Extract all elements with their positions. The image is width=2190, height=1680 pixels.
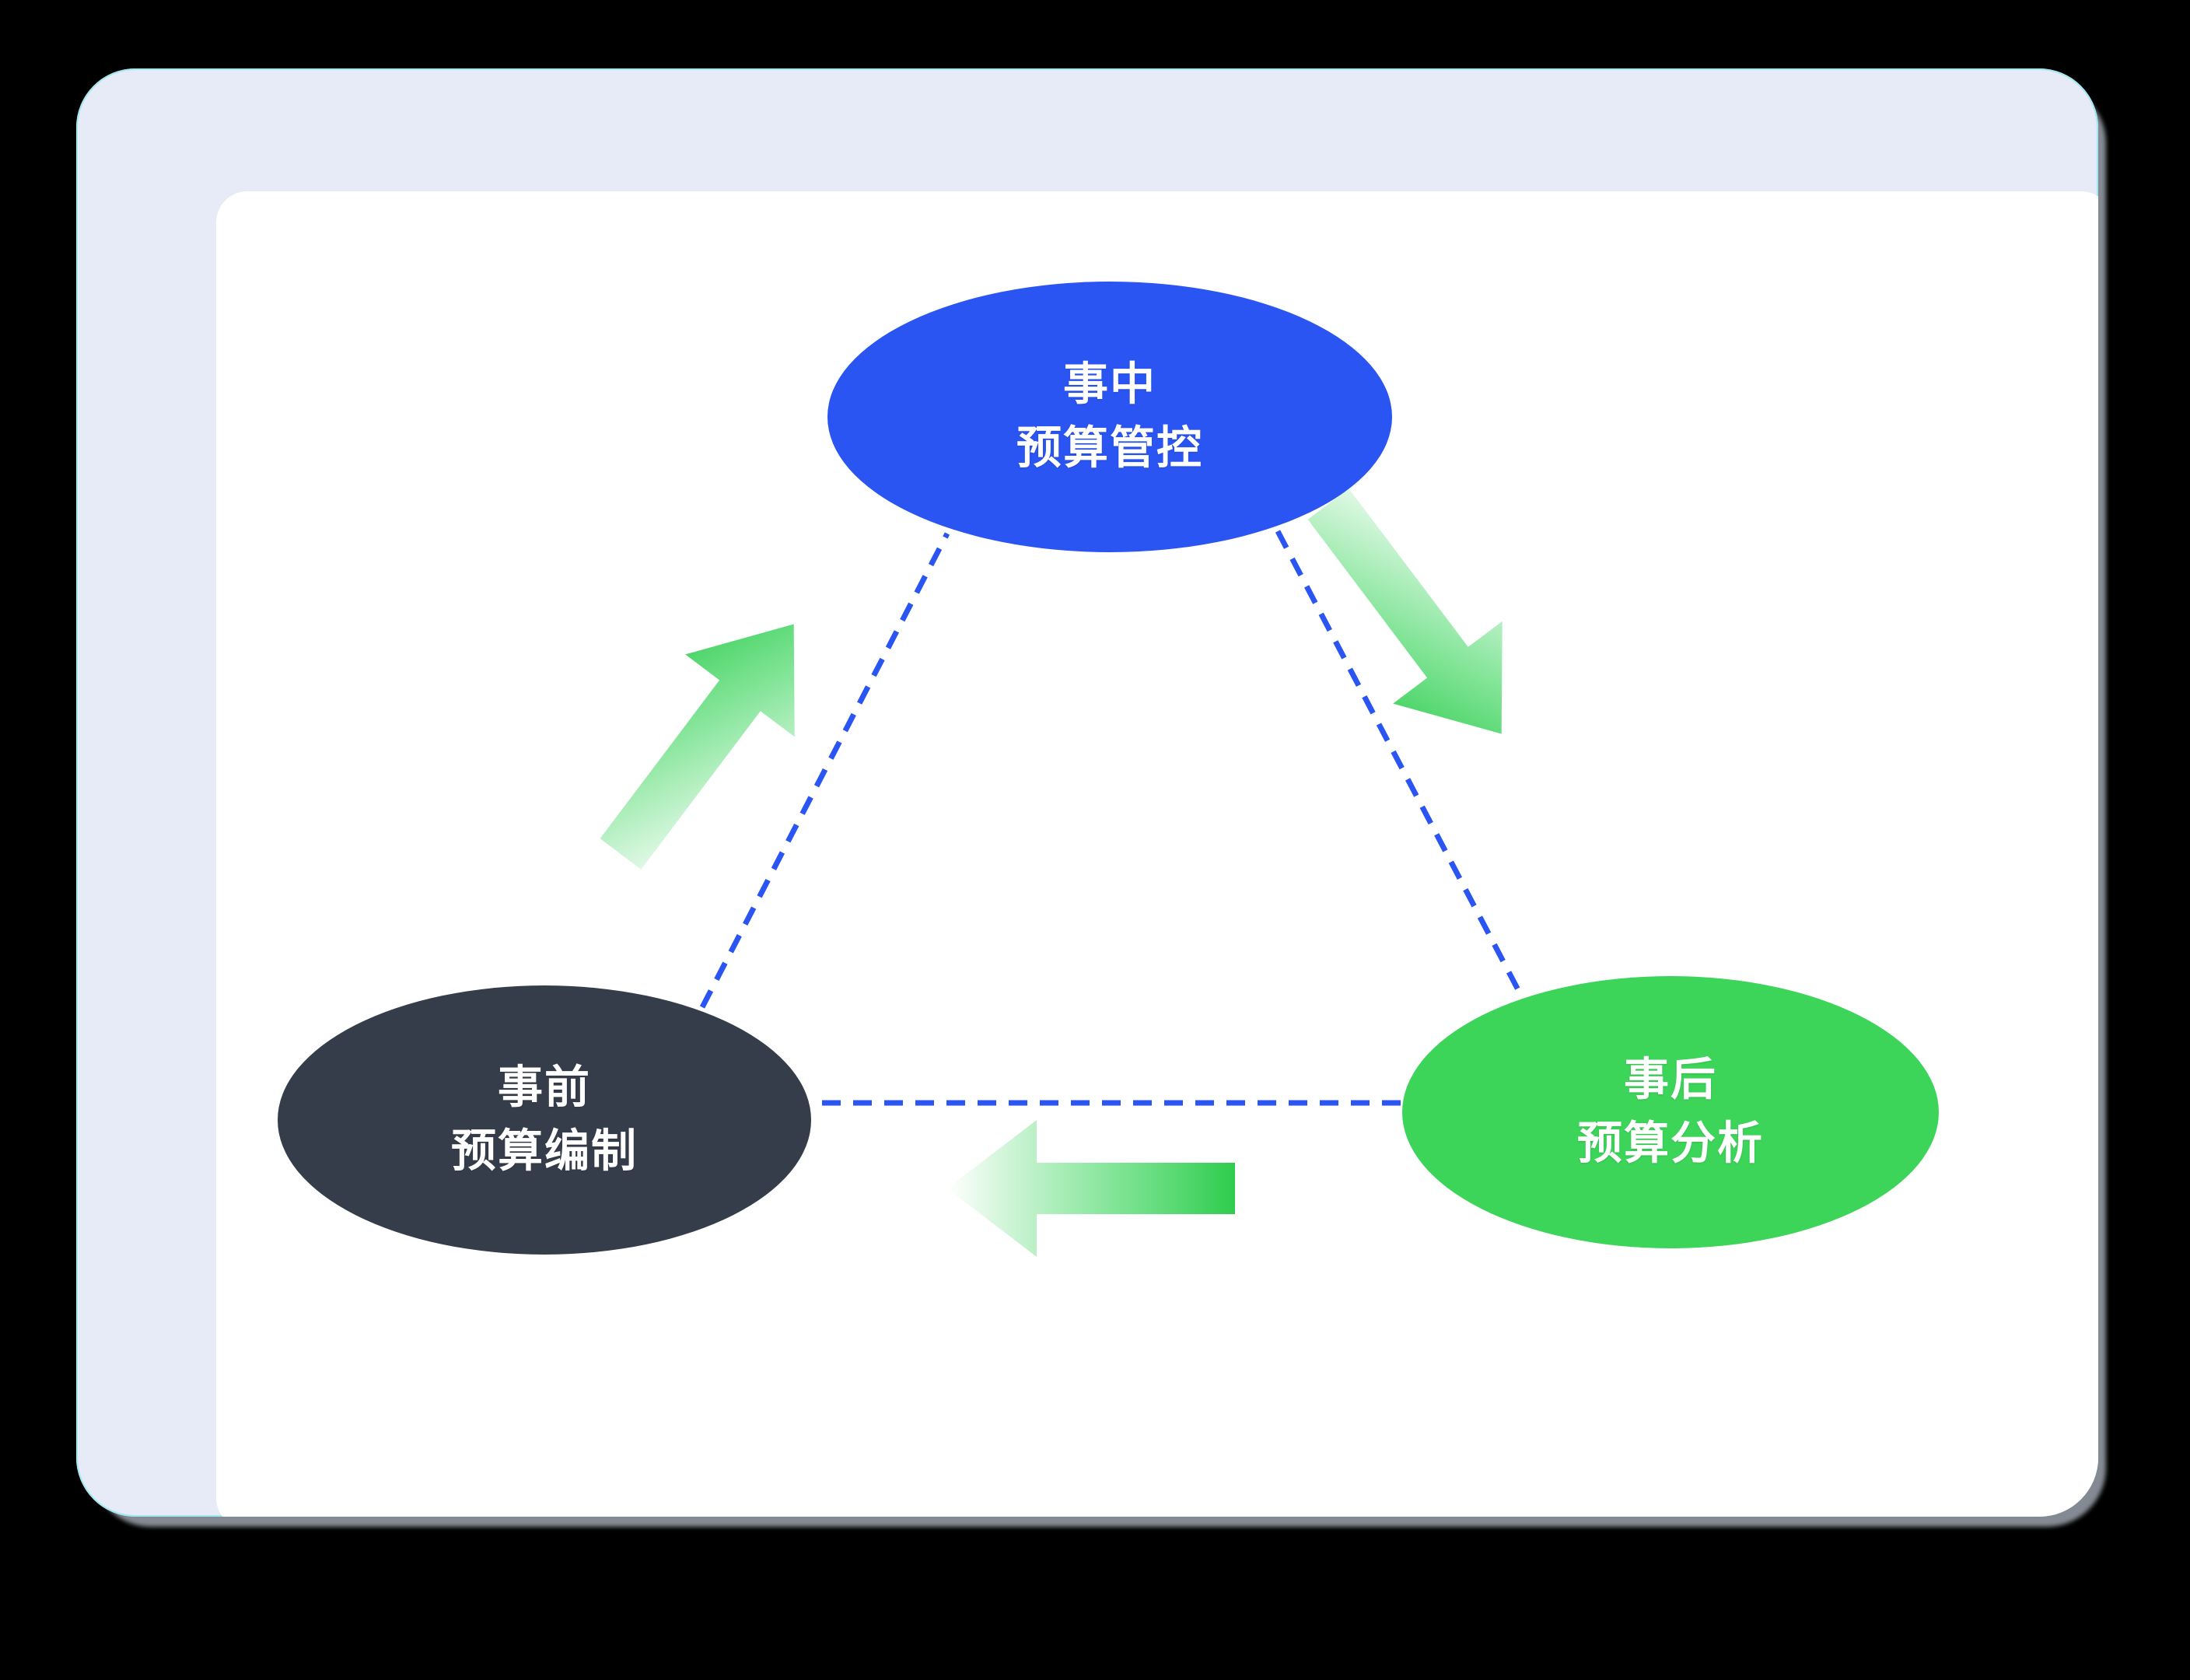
node-right-ellipse[interactable] [1402, 976, 1939, 1248]
arrow-down-right-icon [1274, 463, 1556, 775]
node-center-ellipse[interactable] [827, 282, 1392, 552]
arrow-left-icon [947, 1120, 1235, 1257]
arrow-up-right-icon [566, 583, 848, 895]
budget-cycle-diagram [76, 68, 2098, 1517]
screenshot-root: 事中 预算管控 事前 预算编制 事后 预算分析 [0, 0, 2190, 1680]
node-left-ellipse[interactable] [278, 985, 811, 1255]
connector-left-to-center [702, 534, 947, 1007]
